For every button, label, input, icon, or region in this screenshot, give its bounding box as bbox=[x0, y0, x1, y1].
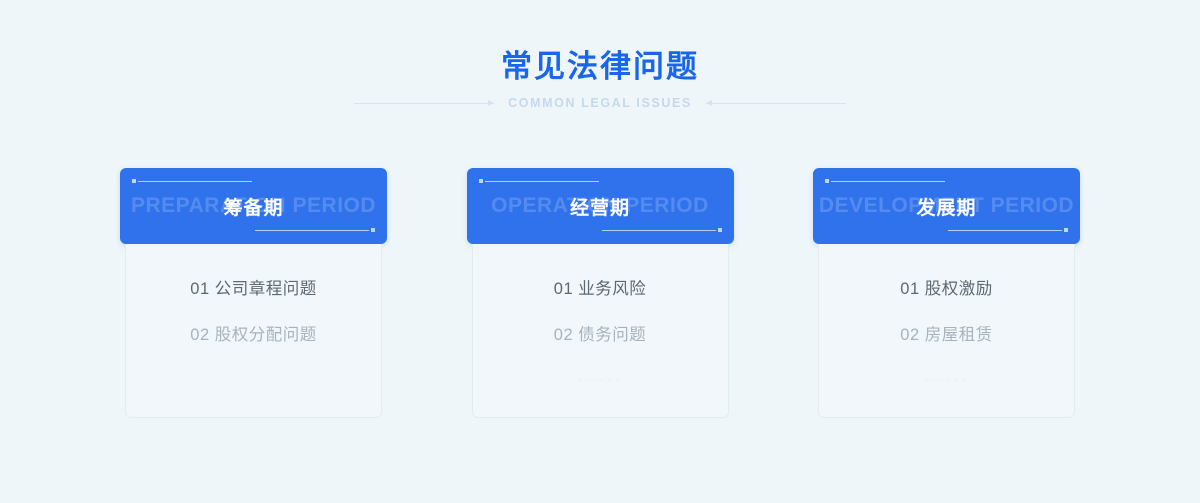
list-item-ellipsis: ······ bbox=[819, 368, 1074, 390]
line-bar bbox=[354, 103, 494, 104]
card-body: 01 股权激励 02 房屋租赁 ······ bbox=[818, 244, 1075, 418]
arrow-right-icon bbox=[488, 100, 494, 106]
page-header: 常见法律问题 COMMON LEGAL ISSUES bbox=[0, 0, 1200, 150]
list-item[interactable]: 01 业务风险 bbox=[473, 278, 728, 300]
dot-icon bbox=[371, 228, 375, 232]
list-item[interactable]: 02 债务问题 bbox=[473, 324, 728, 346]
cards-row: PREPARATION PERIOD 筹备期 01 公司章程问题 02 股权分配… bbox=[120, 168, 1080, 420]
card-preparation[interactable]: PREPARATION PERIOD 筹备期 01 公司章程问题 02 股权分配… bbox=[120, 168, 387, 420]
card-header: OPERATION PERIOD 经营期 bbox=[467, 168, 734, 244]
header-decoration-bottom bbox=[602, 228, 722, 233]
list-item[interactable]: 01 股权激励 bbox=[819, 278, 1074, 300]
line-bar bbox=[706, 103, 846, 104]
card-header: DEVELOPMENT PERIOD 发展期 bbox=[813, 168, 1080, 244]
list-item[interactable]: 01 公司章程问题 bbox=[126, 278, 381, 300]
page-subtitle: COMMON LEGAL ISSUES bbox=[508, 96, 692, 110]
decorative-line-right bbox=[706, 98, 846, 108]
page-title: 常见法律问题 bbox=[0, 47, 1200, 87]
list-item[interactable]: 02 房屋租赁 bbox=[819, 324, 1074, 346]
card-development[interactable]: DEVELOPMENT PERIOD 发展期 01 股权激励 02 房屋租赁 ·… bbox=[813, 168, 1080, 420]
line-icon bbox=[255, 230, 369, 231]
list-item-ellipsis: ······ bbox=[473, 368, 728, 390]
card-header: PREPARATION PERIOD 筹备期 bbox=[120, 168, 387, 244]
header-decoration-bottom bbox=[948, 228, 1068, 233]
decorative-line-left bbox=[354, 98, 494, 108]
line-icon bbox=[948, 230, 1062, 231]
card-body: 01 业务风险 02 债务问题 ······ bbox=[472, 244, 729, 418]
line-icon bbox=[602, 230, 716, 231]
header-decoration-bottom bbox=[255, 228, 375, 233]
card-operation[interactable]: OPERATION PERIOD 经营期 01 业务风险 02 债务问题 ···… bbox=[467, 168, 734, 420]
dot-icon bbox=[718, 228, 722, 232]
list-item[interactable]: 02 股权分配问题 bbox=[126, 324, 381, 346]
dot-icon bbox=[1064, 228, 1068, 232]
subtitle-row: COMMON LEGAL ISSUES bbox=[0, 92, 1200, 114]
card-body: 01 公司章程问题 02 股权分配问题 bbox=[125, 244, 382, 418]
